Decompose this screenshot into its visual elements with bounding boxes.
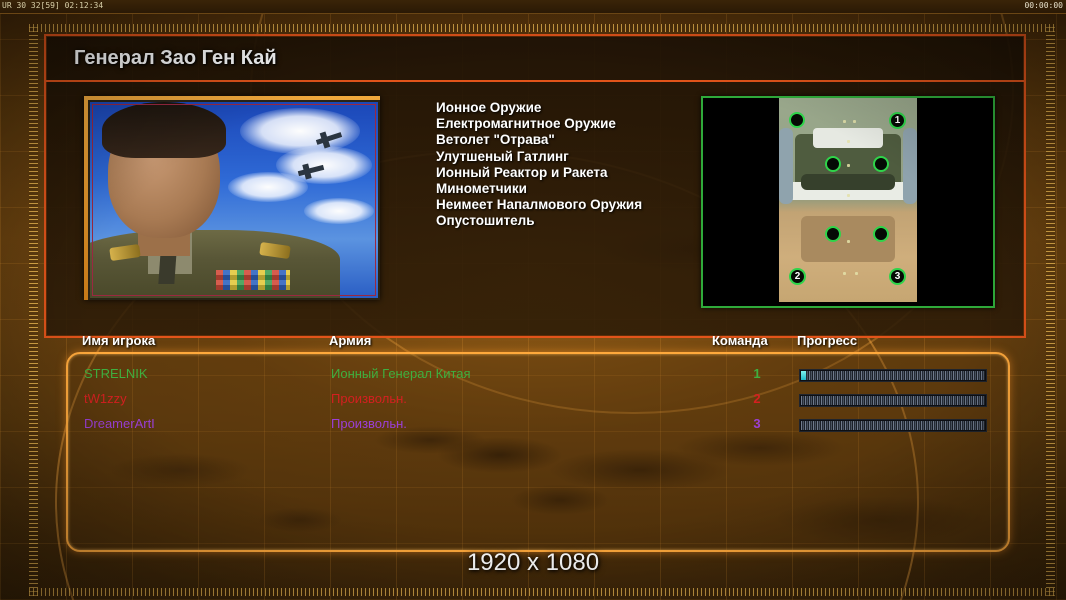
- general-portrait-frame: [84, 96, 380, 300]
- map-detail: [847, 164, 850, 167]
- cloud-shape: [304, 198, 374, 224]
- map-detail: [843, 120, 846, 123]
- medal-ribbons-overlay: [216, 270, 290, 290]
- ability-item: Опустошитель: [436, 213, 726, 229]
- hud-bar: UR 30 32[59] 02:12:34 00:00:00: [0, 0, 1066, 14]
- player-name: tW1zzy: [84, 391, 127, 406]
- map-detail: [847, 194, 850, 197]
- map-detail: [847, 240, 850, 243]
- player-team: 2: [748, 391, 766, 406]
- ability-item: Ионный Реактор и Ракета: [436, 165, 726, 181]
- map-detail: [853, 120, 856, 123]
- progress-bar-track: [801, 371, 985, 380]
- header-progress: Прогресс: [797, 333, 857, 348]
- player-name: DreamerArtI: [84, 416, 155, 431]
- hud-timer: 00:00:00: [1024, 1, 1063, 10]
- player-team: 3: [748, 416, 766, 431]
- table-row: tW1zzy Произвольн. 2: [68, 391, 1008, 415]
- header-team: Команда: [712, 333, 768, 348]
- start-position-marker: [825, 226, 841, 242]
- player-army: Ионный Генерал Китая: [331, 366, 471, 381]
- header-army: Армия: [329, 333, 371, 348]
- progress-bar-fill: [801, 371, 806, 380]
- progress-bar-track: [801, 421, 985, 430]
- progress-bar: [799, 369, 987, 382]
- ability-item: Ветолет "Отрава": [436, 132, 726, 148]
- table-row: DreamerArtI Произвольн. 3: [68, 416, 1008, 440]
- progress-bar-track: [801, 396, 985, 405]
- player-list-panel: STRELNIK Ионный Генерал Китая 1 tW1zzy П…: [66, 352, 1010, 552]
- table-row: STRELNIK Ионный Генерал Китая 1: [68, 366, 1008, 390]
- map-detail: [855, 272, 858, 275]
- ability-item: Минометчики: [436, 181, 726, 197]
- progress-bar: [799, 394, 987, 407]
- ability-item: Улутшеный Гатлинг: [436, 149, 726, 165]
- page-title: Генерал Зао Ген Кай: [74, 47, 277, 70]
- minimap: 1 2 3: [701, 96, 995, 308]
- uniform-shape: [88, 230, 340, 300]
- start-position-3: 3: [889, 268, 906, 285]
- ability-item: Неимеет Напалмового Оружия: [436, 197, 726, 213]
- player-army: Произвольн.: [331, 391, 407, 406]
- hair-shape: [102, 102, 226, 158]
- minimap-inner: 1 2 3: [703, 98, 993, 306]
- terrain-water: [903, 128, 917, 204]
- general-abilities-list: Ионное Оружие Електромагнитное Оружие Ве…: [436, 100, 726, 230]
- panel-body: Ионное Оружие Електромагнитное Оружие Ве…: [46, 82, 1024, 336]
- start-position-marker: [873, 156, 889, 172]
- general-info-panel: Генерал Зао Ген Кай: [44, 34, 1026, 338]
- resolution-label: 1920 x 1080: [0, 549, 1066, 577]
- ability-item: Ионное Оружие: [436, 100, 726, 116]
- panel-title-bar: Генерал Зао Ген Кай: [46, 36, 1024, 82]
- terrain-forest-dark: [801, 174, 895, 190]
- start-position-marker: [825, 156, 841, 172]
- loading-screen: UR 30 32[59] 02:12:34 00:00:00 Генерал З…: [0, 0, 1066, 600]
- start-position-2: 2: [789, 268, 806, 285]
- terrain-water: [779, 128, 793, 204]
- player-army: Произвольн.: [331, 416, 407, 431]
- terrain-snow: [813, 128, 883, 148]
- player-table-header: Имя игрока Армия Команда Прогресс: [66, 333, 1006, 351]
- cloud-shape: [228, 172, 308, 202]
- hud-stats-text: UR 30 32[59] 02:12:34: [2, 1, 103, 10]
- progress-bar: [799, 419, 987, 432]
- player-team: 1: [748, 366, 766, 381]
- header-player-name: Имя игрока: [82, 333, 155, 348]
- start-position-1: 1: [889, 112, 906, 129]
- start-position-marker: [789, 112, 805, 128]
- map-detail: [847, 140, 850, 143]
- map-detail: [843, 272, 846, 275]
- player-name: STRELNIK: [84, 366, 148, 381]
- start-position-marker: [873, 226, 889, 242]
- minimap-terrain: 1 2 3: [779, 98, 917, 302]
- general-portrait: [88, 100, 380, 300]
- ability-item: Електромагнитное Оружие: [436, 116, 726, 132]
